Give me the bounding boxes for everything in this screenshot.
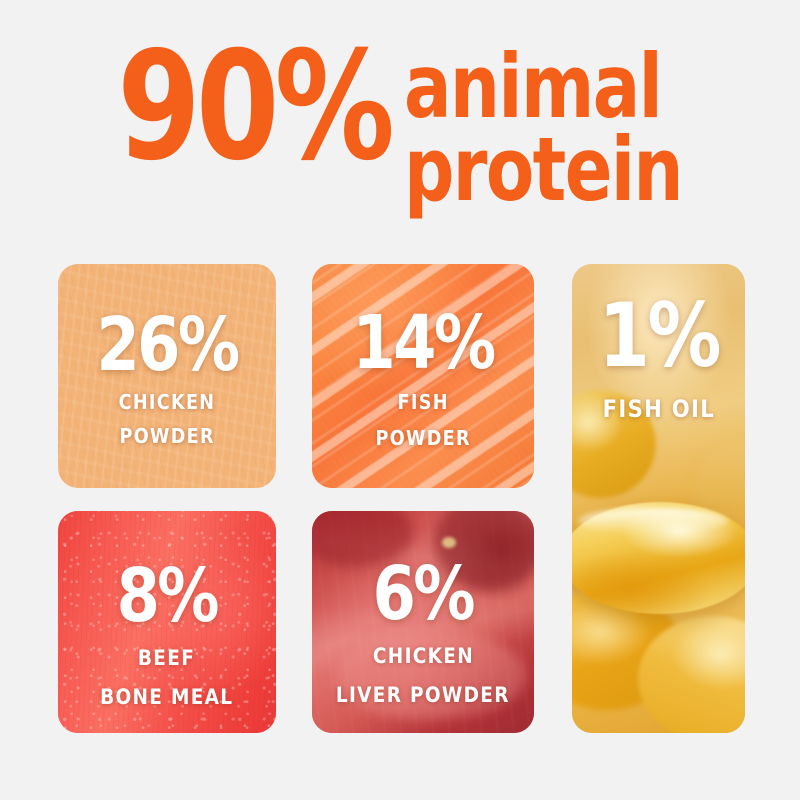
tile-percent: 14%: [352, 306, 493, 380]
headline-percent: 90%: [117, 38, 390, 176]
tile-content: 1% FISH OIL: [572, 264, 745, 425]
tile-label-line-2: LIVER POWDER: [336, 682, 510, 709]
tile-percent: 8%: [117, 559, 217, 633]
tile-percent: 1%: [598, 292, 718, 380]
ingredient-tile-beef-bone-meal[interactable]: 8% BEEF BONE MEAL: [58, 511, 276, 733]
ingredient-tile-chicken-powder[interactable]: 26% CHICKEN POWDER: [58, 264, 276, 488]
ingredient-tile-fish-oil[interactable]: 1% FISH OIL: [572, 264, 745, 733]
tile-content: 14% FISH POWDER: [312, 264, 534, 451]
tile-label-line-1: BEEF: [138, 645, 195, 672]
capsule-main-highlight: [578, 508, 728, 534]
tile-label-line-2: POWDER: [375, 426, 470, 452]
headline-line-2: protein: [404, 129, 682, 212]
tile-content: 26% CHICKEN POWDER: [58, 264, 276, 449]
ingredient-tile-chicken-liver-powder[interactable]: 6% CHICKEN LIVER POWDER: [312, 511, 534, 733]
tile-content: 6% CHICKEN LIVER POWDER: [312, 511, 534, 709]
headline-line-1: animal: [404, 46, 682, 129]
tile-content: 8% BEEF BONE MEAL: [58, 511, 276, 711]
tile-label-line-2: POWDER: [119, 424, 214, 450]
ingredient-tile-fish-powder[interactable]: 14% FISH POWDER: [312, 264, 534, 488]
tile-label-line-2: BONE MEAL: [100, 684, 233, 711]
tile-label-line-1: CHICKEN: [372, 643, 473, 670]
infographic-poster: 90% animal protein 26% CHICKEN POWDER 14…: [0, 0, 800, 800]
tile-percent: 6%: [373, 557, 473, 631]
tile-label-line-1: CHICKEN: [119, 390, 216, 416]
headline-words: animal protein: [404, 38, 682, 211]
tile-label-line-1: FISH OIL: [602, 394, 714, 425]
tile-label-line-1: FISH: [397, 390, 448, 416]
tile-percent: 26%: [96, 308, 237, 382]
headline: 90% animal protein: [0, 38, 800, 211]
